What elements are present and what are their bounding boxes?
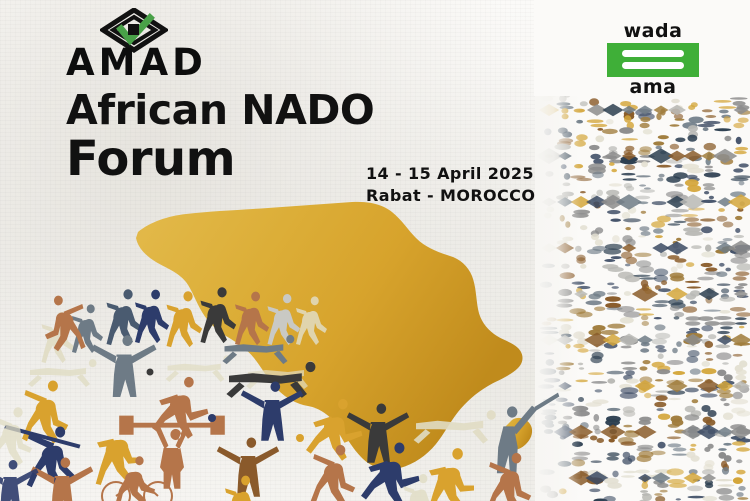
wada-bottom-word: ama	[607, 78, 699, 98]
title-line-primary: African NADO	[66, 90, 496, 132]
amad-wordmark: AMAD	[66, 44, 246, 81]
wada-ama-logo[interactable]: wada ama	[607, 22, 699, 98]
wada-top-word: wada	[607, 22, 699, 42]
event-dates: 14 - 15 April 2025	[366, 163, 535, 185]
sport-silhouettes-collage	[0, 268, 560, 501]
wada-green-box-icon	[607, 43, 699, 77]
poster-canvas: AMAD wada ama African NADO Forum 14 - 15…	[0, 0, 750, 501]
wada-bar-bottom	[622, 62, 684, 69]
wada-bar-top	[622, 50, 684, 57]
amad-logo[interactable]: AMAD	[66, 8, 246, 80]
